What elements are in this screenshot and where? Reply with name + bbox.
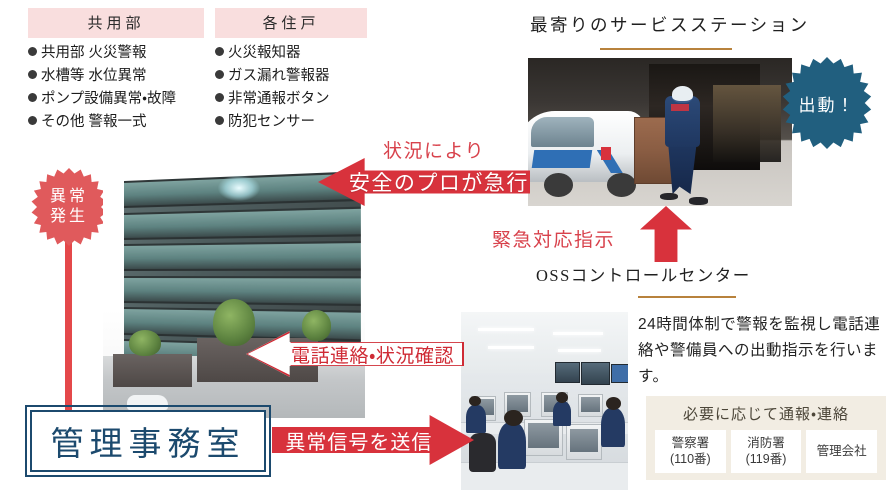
building-floor <box>124 241 361 271</box>
list-item-label: 非常通報ボタン <box>228 91 330 107</box>
photo-office-chair <box>469 433 496 472</box>
photo-vehicle-wheel <box>607 173 636 197</box>
contacts-card-row: 警察署 (110番) 消防署 (119番) 管理会社 <box>655 430 877 473</box>
contacts-panel-title: 必要に応じて通報・連絡 <box>655 403 877 424</box>
contact-name: 管理会社 <box>817 443 867 459</box>
list-item-label: 共用部 火災警報 <box>41 45 147 61</box>
alarm-list-common-area-header: 共用部 <box>28 8 204 38</box>
photo-ceiling-light <box>488 346 535 349</box>
list-item-label: ポンプ設備異常・故障 <box>41 91 176 107</box>
pro-dispatch-caption: 状況により <box>383 136 485 163</box>
photo-desktop-monitor <box>566 424 601 460</box>
list-item: ガス漏れ警報器 <box>215 65 367 88</box>
photo-operator <box>466 405 486 433</box>
building-roof-glow <box>218 175 260 201</box>
management-office-box: 管理事務室 <box>30 410 266 472</box>
abnormal-signal-arrow: 異常信号を送信 <box>272 415 474 465</box>
photo-operator-head <box>606 397 621 409</box>
bullet-icon <box>215 93 224 102</box>
photo-oss-logo-accent <box>601 147 612 160</box>
bullet-icon <box>28 47 37 56</box>
alarm-badge-line1: 異常 <box>50 188 88 205</box>
list-item-label: ガス漏れ警報器 <box>228 68 330 84</box>
alarm-occurrence-badge: 異常発生 <box>30 168 108 246</box>
photo-guard-badge <box>671 104 689 111</box>
photo-operator-head <box>504 410 522 426</box>
list-item: 非常通報ボタン <box>215 88 367 111</box>
emergency-instruction-caption: 緊急対応指示 <box>492 225 615 252</box>
control-center-description: 24時間体制で警報を監視し電話連絡や警備員への出動指示を行います。 <box>638 312 888 390</box>
dispatch-badge: 出動！ <box>781 57 873 149</box>
list-item: 水槽等 水位異常 <box>28 65 204 88</box>
infographic-root: 共用部 共用部 火災警報 水槽等 水位異常 ポンプ設備異常・故障 その他 警報一… <box>0 0 894 504</box>
photo-wall-monitor <box>611 364 628 384</box>
alarm-badge-line2: 発生 <box>50 208 88 225</box>
bullet-icon <box>28 116 37 125</box>
alarm-list-each-dwelling-items: 火災報知器 ガス漏れ警報器 非常通報ボタン 防犯センサー <box>215 42 367 134</box>
contact-number: (119番) <box>733 451 800 467</box>
photo-vehicle-stripe <box>532 150 593 168</box>
photo-ceiling-light <box>558 349 601 352</box>
photo-vehicle-window <box>531 117 594 147</box>
bullet-icon <box>215 47 224 56</box>
bullet-icon <box>215 116 224 125</box>
list-item: 火災報知器 <box>215 42 367 65</box>
pro-dispatch-arrow-label: 安全のプロが急行 <box>349 167 529 197</box>
contacts-panel: 必要に応じて通報・連絡 警察署 (110番) 消防署 (119番) 管理会社 <box>646 396 886 480</box>
control-center-title-rule <box>638 296 736 298</box>
photo-glass-facade <box>713 85 782 162</box>
service-station-title: 最寄りのサービスステーション <box>530 12 810 37</box>
list-item-label: 防犯センサー <box>228 114 315 130</box>
dispatch-badge-label: 出動！ <box>799 91 856 116</box>
photo-wall-monitor <box>555 362 580 384</box>
building-shrub <box>129 330 160 356</box>
list-item-label: 水槽等 水位異常 <box>41 68 147 84</box>
photo-vehicle-wheel <box>544 173 573 197</box>
building-floor <box>124 206 361 240</box>
list-item: 防犯センサー <box>215 111 367 134</box>
building-planter-wall <box>113 354 192 388</box>
list-item: 共用部 火災警報 <box>28 42 204 65</box>
alarm-list-common-area-items: 共用部 火災警報 水槽等 水位異常 ポンプ設備異常・故障 その他 警報一式 <box>28 42 204 134</box>
bullet-icon <box>28 70 37 79</box>
photo-operator <box>498 422 526 468</box>
photo-guard-shoe <box>660 193 678 200</box>
bullet-icon <box>215 70 224 79</box>
building-tree <box>302 310 331 341</box>
photo-guard-shoe <box>689 197 707 204</box>
control-center-title: OSSコントロールセンター <box>536 262 751 286</box>
abnormal-signal-arrow-label: 異常信号を送信 <box>285 426 432 455</box>
photo-operator-head <box>556 392 568 403</box>
service-station-photo <box>528 58 792 206</box>
contact-name: 警察署 <box>657 435 724 451</box>
photo-ceiling-light <box>553 332 603 335</box>
phone-contact-arrow-label: 電話連絡・状況確認 <box>291 341 454 368</box>
management-office-label: 管理事務室 <box>51 417 246 465</box>
alarm-list-each-dwelling: 各住戸 火災報知器 ガス漏れ警報器 非常通報ボタン 防犯センサー <box>215 8 367 134</box>
control-center-photo <box>461 312 628 490</box>
list-item-label: 火災報知器 <box>228 45 301 61</box>
contact-card-fire: 消防署 (119番) <box>731 430 802 473</box>
photo-operator <box>553 401 571 426</box>
bullet-icon <box>28 93 37 102</box>
contact-number: (110番) <box>657 451 724 467</box>
list-item: その他 警報一式 <box>28 111 204 134</box>
photo-operator <box>601 408 624 447</box>
contact-card-police: 警察署 (110番) <box>655 430 726 473</box>
photo-ceiling-light <box>478 328 535 331</box>
building-parked-car <box>127 395 169 410</box>
list-item: ポンプ設備異常・故障 <box>28 88 204 111</box>
alarm-list-each-dwelling-header: 各住戸 <box>215 8 367 38</box>
building-tree <box>213 299 255 345</box>
alarm-occurrence-label: 異常発生 <box>50 187 88 227</box>
emergency-instruction-arrow <box>640 206 692 262</box>
list-item-label: その他 警報一式 <box>41 114 147 130</box>
alarm-list-common-area: 共用部 共用部 火災警報 水槽等 水位異常 ポンプ設備異常・故障 その他 警報一… <box>28 8 204 134</box>
photo-wall-monitor <box>581 362 610 385</box>
photo-guard-helmet <box>672 86 693 103</box>
service-station-title-rule <box>600 48 732 50</box>
apartment-building-photo <box>103 160 365 418</box>
contact-card-management: 管理会社 <box>806 430 877 473</box>
photo-desktop-monitor <box>578 394 603 417</box>
photo-guard-legs <box>668 141 697 194</box>
contact-name: 消防署 <box>733 435 800 451</box>
